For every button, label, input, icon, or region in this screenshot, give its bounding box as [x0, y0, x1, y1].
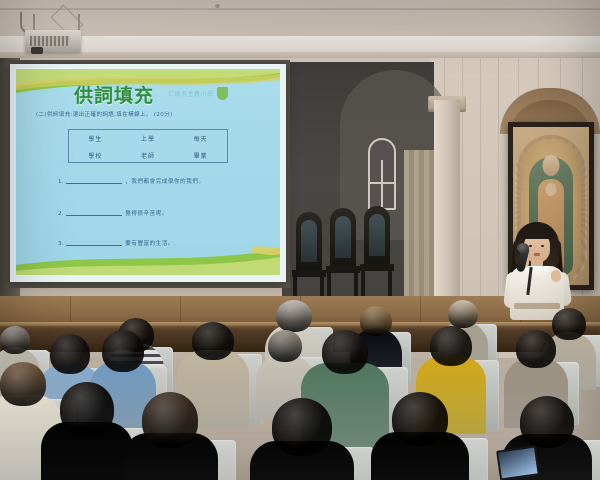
- audience-head: [272, 398, 332, 456]
- audience-head: [142, 392, 198, 448]
- audience-row-front: [0, 0, 600, 480]
- lecture-hall-photo: 供詞填充 仁德天主教小學 (二)供詞填充:選出正確的詞語,填在橫線上。 (20分…: [0, 0, 600, 480]
- audience-head: [0, 362, 46, 406]
- audience-head: [520, 396, 574, 448]
- audience-head: [60, 382, 114, 436]
- tablet-device[interactable]: [496, 445, 540, 480]
- audience-head: [392, 392, 448, 446]
